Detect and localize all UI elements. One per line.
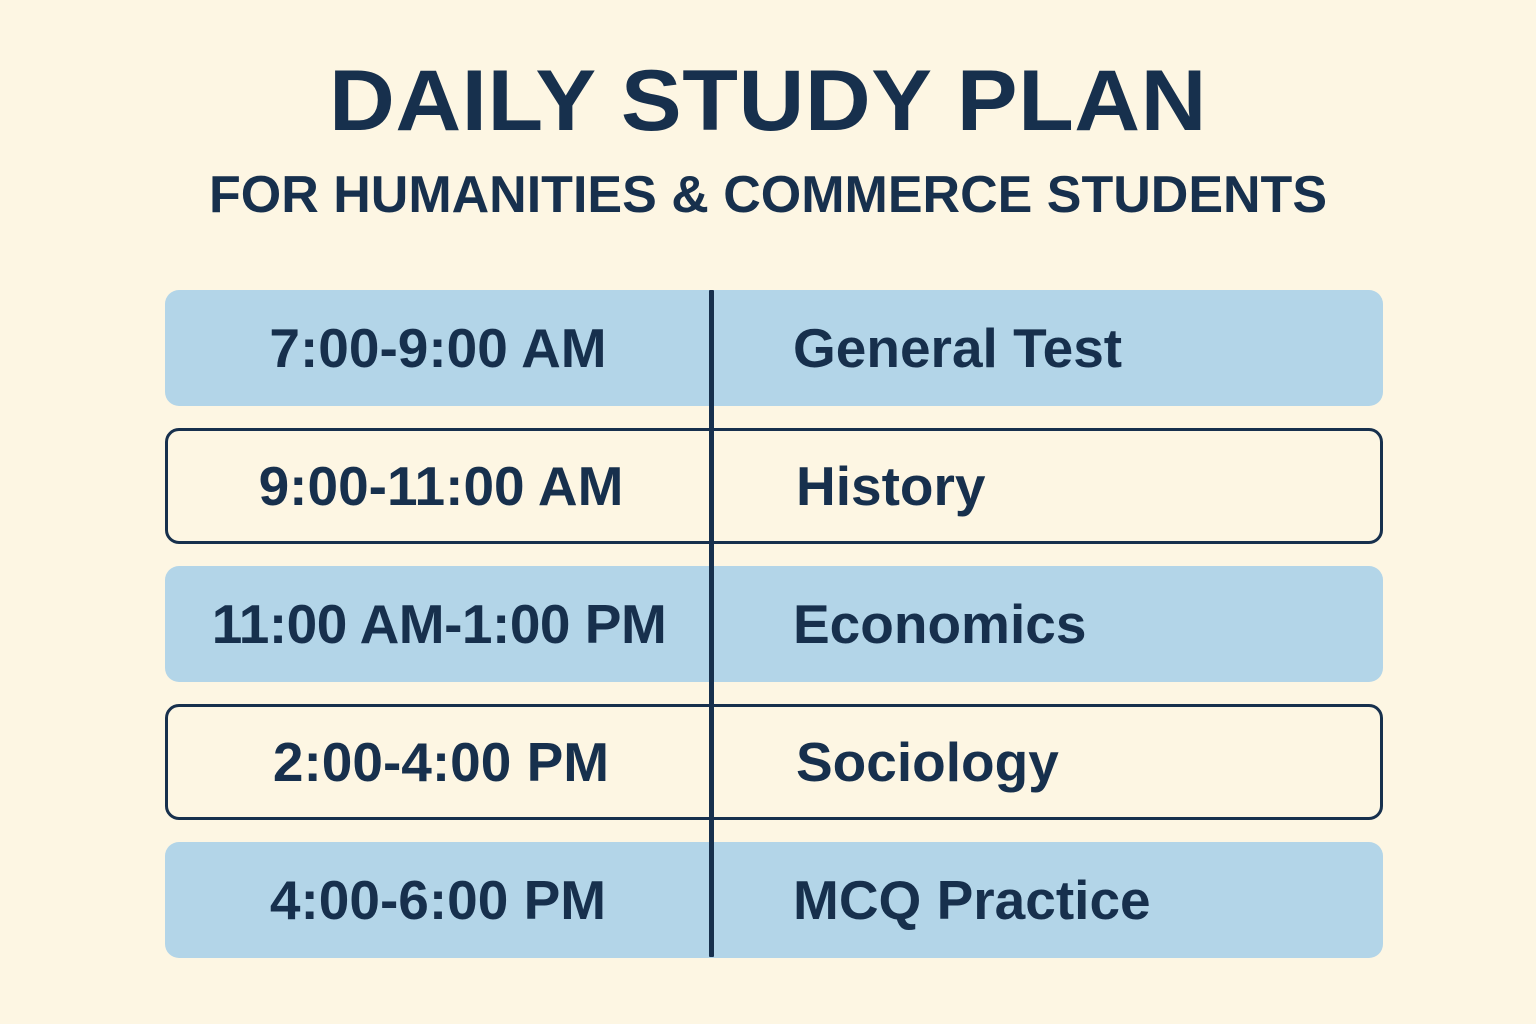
heading-block: DAILY STUDY PLAN FOR HUMANITIES & COMMER… [0, 58, 1536, 222]
table-row[interactable]: 9:00-11:00 AM History [165, 428, 1383, 544]
page-title: DAILY STUDY PLAN [0, 58, 1536, 146]
table-row[interactable]: 2:00-4:00 PM Sociology [165, 704, 1383, 820]
row-subject-cell: Economics [711, 597, 1383, 652]
row-subject-cell: MCQ Practice [711, 873, 1383, 928]
row-time-cell: 2:00-4:00 PM [168, 735, 714, 790]
row-time-cell: 7:00-9:00 AM [165, 321, 711, 376]
row-subject-cell: History [714, 459, 1380, 514]
page-subtitle: FOR HUMANITIES & COMMERCE STUDENTS [0, 168, 1536, 223]
table-row[interactable]: 11:00 AM-1:00 PM Economics [165, 566, 1383, 682]
row-subject-cell: Sociology [714, 735, 1380, 790]
row-time-cell: 11:00 AM-1:00 PM [165, 597, 711, 652]
schedule-table: 7:00-9:00 AM General Test 9:00-11:00 AM … [165, 290, 1383, 957]
column-divider-line [709, 290, 714, 957]
row-time-cell: 9:00-11:00 AM [168, 459, 714, 514]
study-plan-poster: DAILY STUDY PLAN FOR HUMANITIES & COMMER… [0, 0, 1536, 1024]
row-time-cell: 4:00-6:00 PM [165, 873, 711, 928]
row-subject-cell: General Test [711, 321, 1383, 376]
table-row[interactable]: 4:00-6:00 PM MCQ Practice [165, 842, 1383, 958]
table-row[interactable]: 7:00-9:00 AM General Test [165, 290, 1383, 406]
